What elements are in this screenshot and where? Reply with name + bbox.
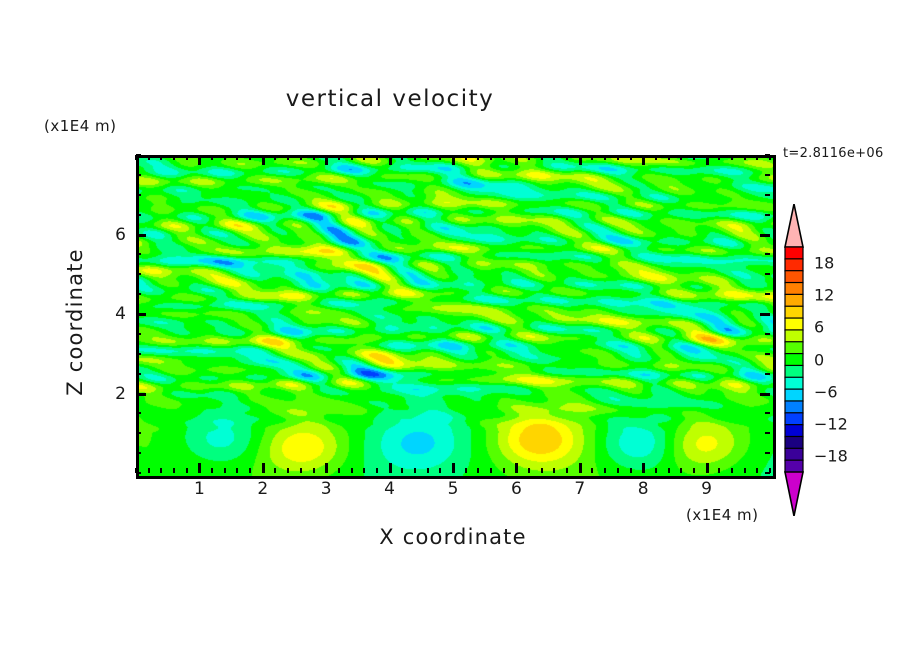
x-axis-minor-tick <box>668 468 670 473</box>
x-axis-tick-label: 5 <box>448 479 459 499</box>
x-axis-minor-tick-top <box>731 155 733 160</box>
x-axis-tick-label: 2 <box>257 479 268 499</box>
colorbar-band <box>785 460 803 472</box>
x-axis-minor-tick <box>401 468 403 473</box>
x-axis-minor-tick-top <box>630 155 632 160</box>
x-axis-minor-tick-top <box>160 155 162 160</box>
y-axis-major-tick-right <box>760 393 770 396</box>
x-axis-major-tick-top <box>452 155 455 165</box>
y-axis-minor-tick <box>136 353 141 355</box>
x-axis-minor-tick-top <box>693 155 695 160</box>
y-axis-minor-tick-right <box>765 412 770 414</box>
x-axis-major-tick <box>452 463 455 473</box>
x-axis-minor-tick-top <box>718 155 720 160</box>
colorbar <box>783 204 805 516</box>
x-axis-major-tick <box>262 463 265 473</box>
x-axis-minor-tick <box>376 468 378 473</box>
y-axis-minor-tick-right <box>765 214 770 216</box>
y-axis-minor-tick-right <box>765 333 770 335</box>
colorbar-band <box>785 259 803 271</box>
x-axis-minor-tick-top <box>439 155 441 160</box>
x-axis-minor-tick <box>173 468 175 473</box>
y-axis-major-tick-right <box>760 313 770 316</box>
x-axis-major-tick-top <box>515 155 518 165</box>
x-axis-minor-tick <box>553 468 555 473</box>
x-axis-minor-tick <box>313 468 315 473</box>
x-axis-minor-tick <box>274 468 276 473</box>
colorbar-band <box>785 365 803 377</box>
x-axis-minor-tick-top <box>490 155 492 160</box>
x-axis-minor-tick <box>236 468 238 473</box>
x-axis-minor-tick-top <box>287 155 289 160</box>
x-axis-minor-tick <box>630 468 632 473</box>
x-axis-minor-tick-top <box>465 155 467 160</box>
colorbar-band <box>785 294 803 306</box>
y-axis-minor-tick-right <box>765 253 770 255</box>
x-axis-minor-tick-top <box>668 155 670 160</box>
x-axis-minor-tick <box>186 468 188 473</box>
y-axis-major-tick <box>136 313 146 316</box>
x-axis-minor-tick-top <box>528 155 530 160</box>
x-axis-minor-tick-top <box>604 155 606 160</box>
x-axis-minor-tick-top <box>591 155 593 160</box>
x-axis-minor-tick-top <box>363 155 365 160</box>
x-axis-minor-tick <box>148 468 150 473</box>
x-axis-minor-tick <box>427 468 429 473</box>
x-axis-minor-tick-top <box>744 155 746 160</box>
plot-area <box>136 155 776 479</box>
x-axis-minor-tick-top <box>541 155 543 160</box>
x-axis-minor-tick-top <box>211 155 213 160</box>
x-axis-minor-tick <box>591 468 593 473</box>
x-axis-major-tick <box>706 463 709 473</box>
y-axis-minor-tick <box>136 253 141 255</box>
x-axis-minor-tick-top <box>313 155 315 160</box>
timestamp-annotation: t=2.8116e+06 <box>783 146 884 161</box>
x-axis-minor-tick <box>160 468 162 473</box>
contour-plot-figure: vertical velocity (x1E4 m) (x1E4 m) t=2.… <box>0 0 904 654</box>
x-axis-minor-tick-top <box>427 155 429 160</box>
x-axis-minor-tick <box>718 468 720 473</box>
x-axis-minor-tick <box>744 468 746 473</box>
x-axis-minor-tick <box>287 468 289 473</box>
x-axis-minor-tick-top <box>376 155 378 160</box>
y-axis-major-tick <box>136 234 146 237</box>
x-axis-minor-tick <box>617 468 619 473</box>
vertical-velocity-field <box>139 158 773 476</box>
y-axis-minor-tick-right <box>765 273 770 275</box>
colorbar-tick-label: −6 <box>814 382 838 401</box>
colorbar-band <box>785 389 803 401</box>
x-axis-minor-tick <box>655 468 657 473</box>
colorbar-band <box>785 342 803 354</box>
x-axis-minor-tick-top <box>477 155 479 160</box>
colorbar-band <box>785 377 803 389</box>
x-axis-minor-tick <box>566 468 568 473</box>
x-axis-minor-tick <box>211 468 213 473</box>
x-axis-unit-label: (x1E4 m) <box>686 506 759 524</box>
x-axis-major-tick-top <box>642 155 645 165</box>
colorbar-band <box>785 401 803 413</box>
x-axis-major-tick-top <box>579 155 582 165</box>
colorbar-band <box>785 306 803 318</box>
y-axis-minor-tick-right <box>765 472 770 474</box>
y-axis-minor-tick-right <box>765 174 770 176</box>
x-axis-minor-tick-top <box>148 155 150 160</box>
x-axis-major-tick-top <box>198 155 201 165</box>
x-axis-minor-tick-top <box>249 155 251 160</box>
x-axis-tick-label: 3 <box>321 479 332 499</box>
x-axis-tick-label: 9 <box>701 479 712 499</box>
colorbar-band <box>785 247 803 259</box>
x-axis-minor-tick-top <box>756 155 758 160</box>
y-axis-minor-tick-right <box>765 353 770 355</box>
y-axis-minor-tick <box>136 273 141 275</box>
x-axis-minor-tick <box>249 468 251 473</box>
x-axis-minor-tick <box>680 468 682 473</box>
x-axis-major-tick <box>389 463 392 473</box>
x-axis-minor-tick <box>300 468 302 473</box>
y-axis-tick-label: 2 <box>96 384 126 404</box>
page-title: vertical velocity <box>0 86 780 112</box>
colorbar-under-arrow <box>785 472 803 516</box>
y-axis-tick-label: 4 <box>96 304 126 324</box>
x-axis-major-tick <box>579 463 582 473</box>
x-axis-minor-tick-top <box>351 155 353 160</box>
y-axis-tick-label: 6 <box>96 225 126 245</box>
x-axis-major-tick <box>515 463 518 473</box>
colorbar-tick-label: 0 <box>814 350 824 369</box>
x-axis-minor-tick <box>224 468 226 473</box>
y-axis-minor-tick <box>136 194 141 196</box>
x-axis-minor-tick-top <box>173 155 175 160</box>
x-axis-minor-tick-top <box>274 155 276 160</box>
x-axis-minor-tick-top <box>655 155 657 160</box>
y-axis-minor-tick <box>136 412 141 414</box>
colorbar-over-arrow <box>785 204 803 247</box>
colorbar-tick-label: 6 <box>814 318 824 337</box>
x-axis-tick-label: 1 <box>194 479 205 499</box>
x-axis-minor-tick <box>604 468 606 473</box>
x-axis-minor-tick-top <box>186 155 188 160</box>
y-axis-minor-tick <box>136 333 141 335</box>
x-axis-minor-tick-top <box>300 155 302 160</box>
y-axis-minor-tick <box>136 373 141 375</box>
x-axis-minor-tick <box>731 468 733 473</box>
x-axis-minor-tick <box>477 468 479 473</box>
x-axis-minor-tick <box>528 468 530 473</box>
x-axis-minor-tick-top <box>401 155 403 160</box>
colorbar-tick-label: −18 <box>814 446 848 465</box>
y-axis-minor-tick <box>136 154 141 156</box>
x-axis-major-tick-top <box>389 155 392 165</box>
x-axis-minor-tick <box>351 468 353 473</box>
x-axis-minor-tick-top <box>503 155 505 160</box>
colorbar-band <box>785 436 803 448</box>
colorbar-tick-label: 12 <box>814 286 834 305</box>
colorbar-band <box>785 318 803 330</box>
x-axis-minor-tick-top <box>414 155 416 160</box>
x-axis-major-tick-top <box>325 155 328 165</box>
y-axis-major-tick <box>136 393 146 396</box>
y-axis-minor-tick-right <box>765 194 770 196</box>
x-axis-tick-label: 7 <box>574 479 585 499</box>
x-axis-minor-tick-top <box>680 155 682 160</box>
colorbar-band <box>785 425 803 437</box>
y-axis-minor-tick <box>136 214 141 216</box>
x-axis-tick-label: 6 <box>511 479 522 499</box>
y-axis-minor-tick-right <box>765 432 770 434</box>
colorbar-band <box>785 330 803 342</box>
x-axis-minor-tick <box>338 468 340 473</box>
x-axis-minor-tick-top <box>224 155 226 160</box>
x-axis-minor-tick <box>465 468 467 473</box>
x-axis-minor-tick <box>503 468 505 473</box>
y-axis-minor-tick-right <box>765 154 770 156</box>
x-axis-major-tick-top <box>706 155 709 165</box>
x-axis-minor-tick <box>693 468 695 473</box>
colorbar-band <box>785 271 803 283</box>
x-axis-major-tick-top <box>262 155 265 165</box>
y-axis-minor-tick <box>136 293 141 295</box>
colorbar-band <box>785 413 803 425</box>
y-axis-minor-tick <box>136 472 141 474</box>
colorbar-band <box>785 354 803 366</box>
y-axis-minor-tick <box>136 174 141 176</box>
x-axis-minor-tick-top <box>553 155 555 160</box>
x-axis-major-tick <box>325 463 328 473</box>
colorbar-tick-label: 18 <box>814 254 834 273</box>
x-axis-tick-label: 4 <box>384 479 395 499</box>
y-axis-unit-label: (x1E4 m) <box>44 117 117 135</box>
x-axis-minor-tick <box>439 468 441 473</box>
x-axis-minor-tick-top <box>617 155 619 160</box>
x-axis-minor-tick <box>363 468 365 473</box>
y-axis-minor-tick <box>136 432 141 434</box>
y-axis-major-tick-right <box>760 234 770 237</box>
y-axis-minor-tick-right <box>765 293 770 295</box>
colorbar-swatches <box>783 204 805 516</box>
colorbar-band <box>785 283 803 295</box>
y-axis-title: Z coordinate <box>63 222 87 422</box>
x-axis-minor-tick-top <box>566 155 568 160</box>
x-axis-minor-tick <box>756 468 758 473</box>
x-axis-title: X coordinate <box>136 525 770 549</box>
y-axis-minor-tick-right <box>765 373 770 375</box>
x-axis-tick-label: 8 <box>638 479 649 499</box>
x-axis-minor-tick <box>541 468 543 473</box>
x-axis-major-tick <box>642 463 645 473</box>
colorbar-band <box>785 448 803 460</box>
x-axis-major-tick <box>198 463 201 473</box>
x-axis-minor-tick <box>414 468 416 473</box>
colorbar-tick-label: −12 <box>814 414 848 433</box>
x-axis-minor-tick-top <box>338 155 340 160</box>
y-axis-minor-tick-right <box>765 452 770 454</box>
x-axis-minor-tick <box>490 468 492 473</box>
x-axis-minor-tick-top <box>236 155 238 160</box>
y-axis-minor-tick <box>136 452 141 454</box>
